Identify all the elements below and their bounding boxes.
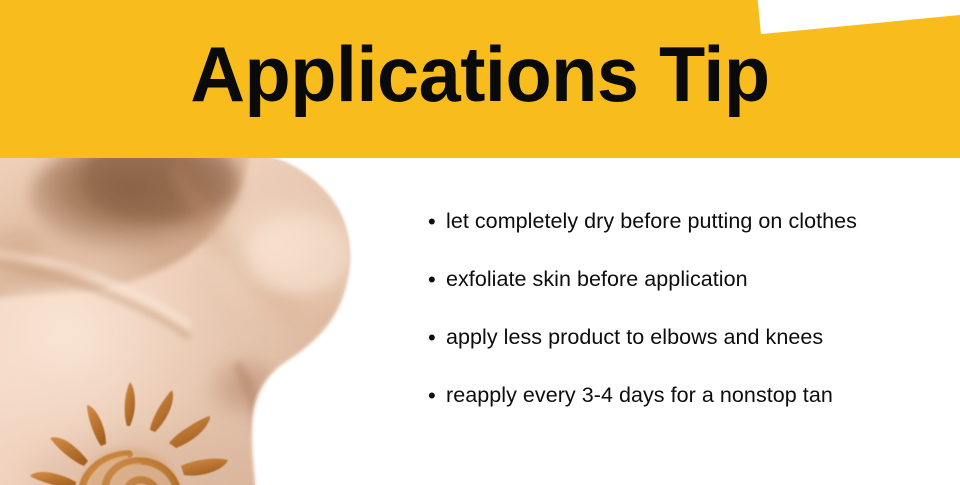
tip-text: exfoliate skin before application	[446, 264, 748, 295]
bullet-icon: •	[428, 206, 446, 237]
list-item: • reapply every 3-4 days for a nonstop t…	[428, 380, 948, 438]
bullet-icon: •	[428, 264, 446, 295]
list-item: • exfoliate skin before application	[428, 264, 948, 322]
list-item: • apply less product to elbows and knees	[428, 322, 948, 380]
photo-illustration	[0, 158, 420, 485]
tips-list: • let completely dry before putting on c…	[428, 206, 948, 438]
tip-text: let completely dry before putting on clo…	[446, 206, 857, 237]
list-item: • let completely dry before putting on c…	[428, 206, 948, 264]
tip-text: apply less product to elbows and knees	[446, 322, 823, 353]
bullet-icon: •	[428, 322, 446, 353]
product-photo	[0, 158, 420, 485]
header-banner: Applications Tip	[0, 0, 960, 158]
infographic-banner: Applications Tip	[0, 0, 960, 485]
tip-text: reapply every 3-4 days for a nonstop tan	[446, 380, 833, 411]
bullet-icon: •	[428, 380, 446, 411]
page-title: Applications Tip	[14, 0, 945, 158]
